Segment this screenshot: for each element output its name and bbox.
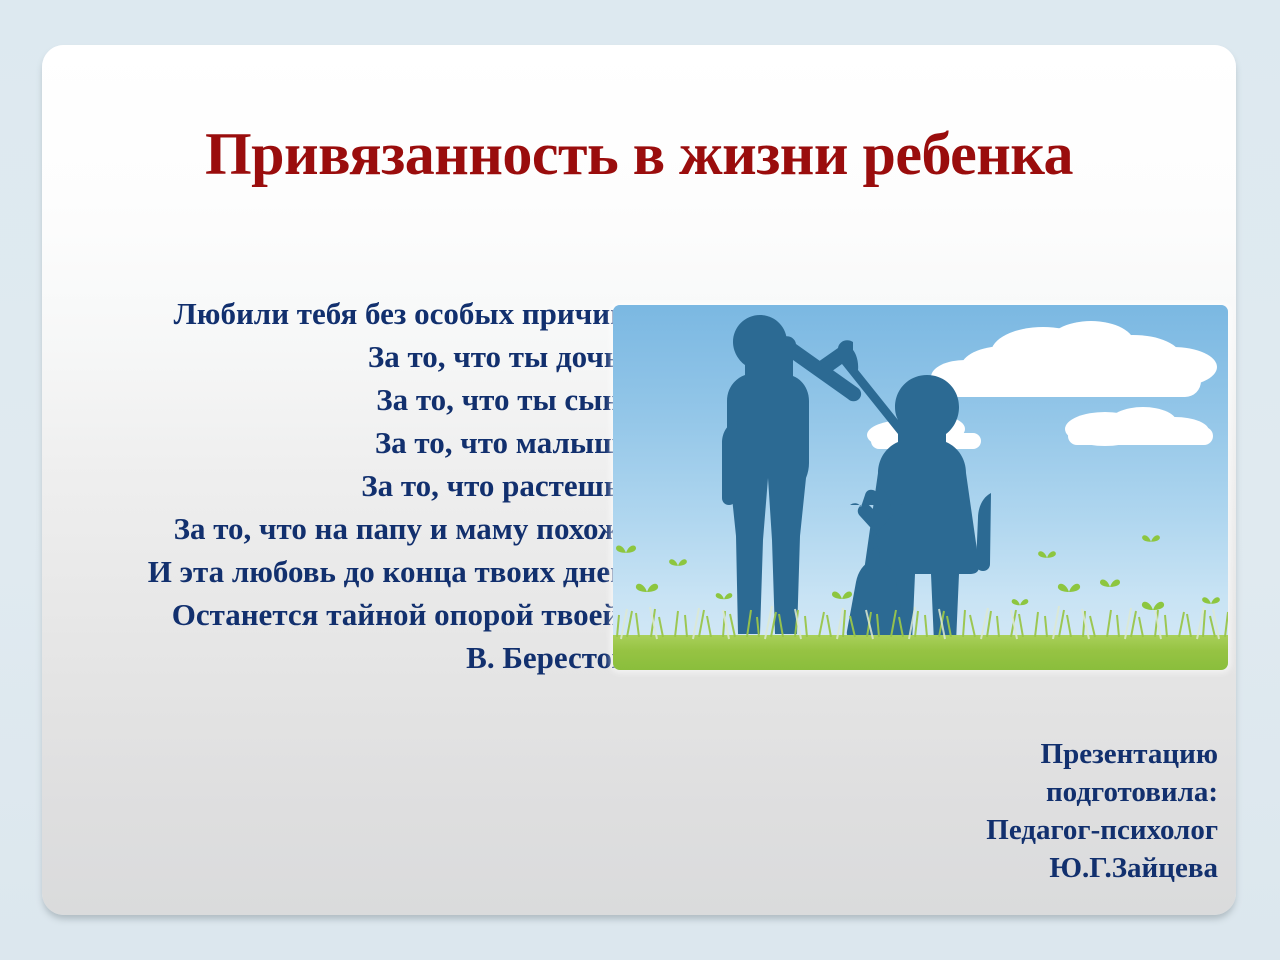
credits-line: подготовила: [658, 773, 1218, 811]
page-title: Привязанность в жизни ребенка [42, 123, 1236, 186]
poem-line: За то, что ты сын, [60, 378, 628, 421]
poem-line: Останется тайной опорой твоей. [60, 593, 628, 636]
credits-line: Презентацию [658, 735, 1218, 773]
poem-line: И эта любовь до конца твоих дней [60, 550, 628, 593]
credits-block: Презентацию подготовила: Педагог-психоло… [658, 735, 1218, 887]
family-silhouette-illustration [613, 305, 1228, 670]
poem-text-block: Любили тебя без особых причин За то, что… [60, 292, 628, 679]
poem-line: За то, что ты дочь, [60, 335, 628, 378]
slide-stage: Привязанность в жизни ребенка Любили теб… [0, 0, 1280, 960]
credits-line: Ю.Г.Зайцева [658, 849, 1218, 887]
poem-author: В. Берестов [60, 636, 628, 679]
family-silhouette-image [613, 305, 1228, 670]
poem-line: Любили тебя без особых причин [60, 292, 628, 335]
poem-line: За то, что растешь, [60, 464, 628, 507]
poem-line: За то, что на папу и маму похож. [60, 507, 628, 550]
presentation-slide: Привязанность в жизни ребенка Любили теб… [42, 45, 1236, 915]
credits-line: Педагог-психолог [658, 811, 1218, 849]
poem-line: За то, что малыш, [60, 421, 628, 464]
